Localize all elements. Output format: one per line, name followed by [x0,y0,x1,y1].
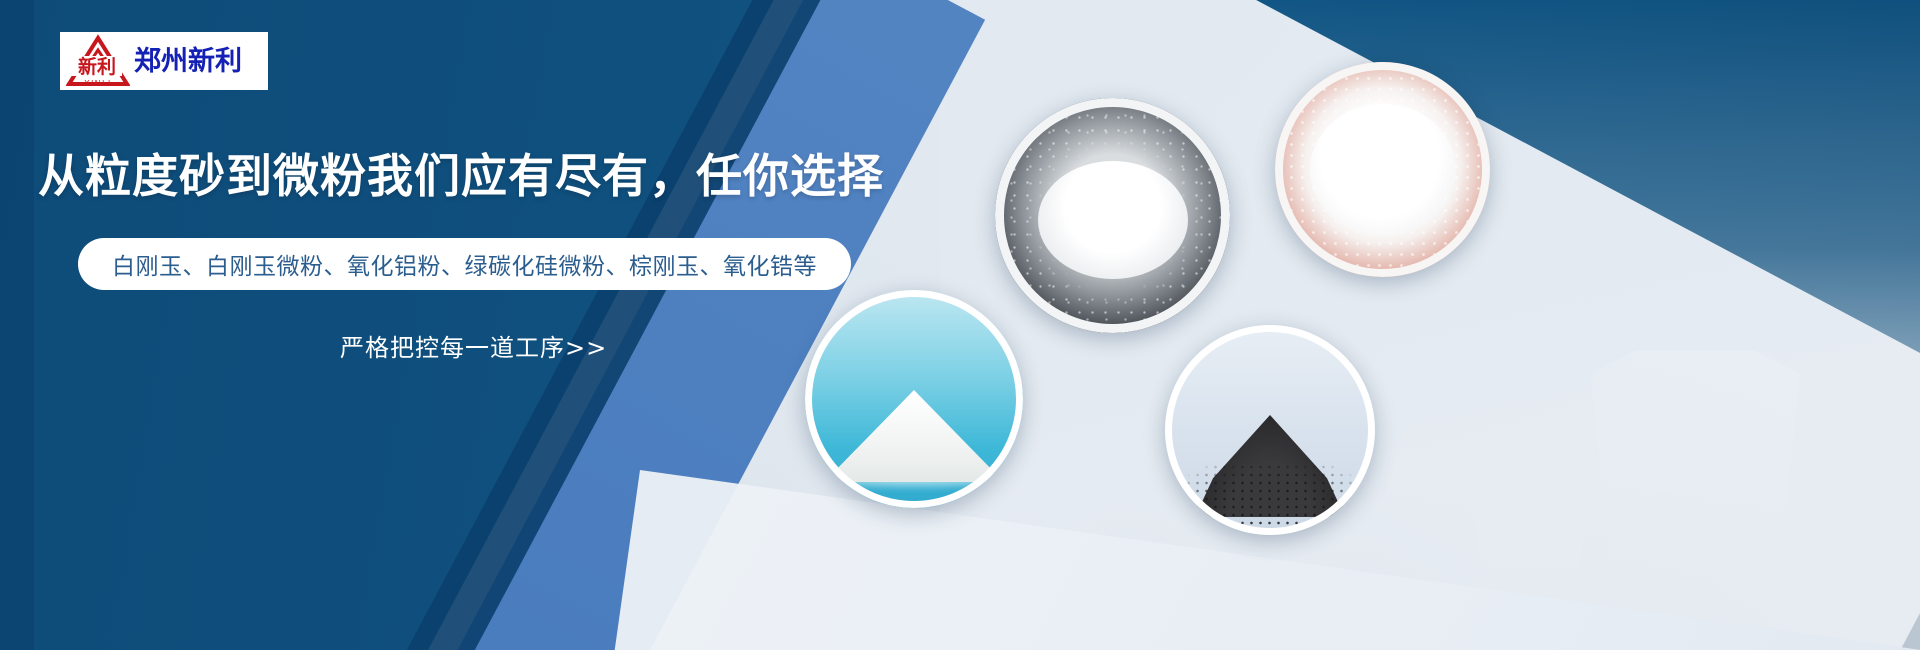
promo-banner: 新利 XINLI 郑州新利 从粒度砂到微粉我们应有尽有，任你选择 白刚玉、白刚玉… [0,0,1920,650]
xinli-triangle-icon: 新利 XINLI [66,34,130,88]
bowl-rim [1275,62,1490,277]
tagline-link[interactable]: 严格把控每一道工序>> [340,328,607,363]
product-list-pill: 白刚玉、白刚玉微粉、氧化铝粉、绿碳化硅微粉、棕刚玉、氧化锆等 [78,238,851,290]
product-photo-white-alumina-micropowder [1275,62,1490,277]
svg-text:新利: 新利 [78,55,116,78]
left-edge-shadow [0,0,34,650]
company-logo[interactable]: 新利 XINLI 郑州新利 [60,32,268,90]
product-photo-alumina-powder-cone [805,290,1023,508]
product-photo-white-fused-alumina-grit [995,98,1230,333]
product-photo-black-silicon-carbide [1165,325,1375,535]
headline-text: 从粒度砂到微粉我们应有尽有，任你选择 [38,140,884,206]
product-list-text: 白刚玉、白刚玉微粉、氧化铝粉、绿碳化硅微粉、棕刚玉、氧化锆等 [112,247,817,281]
bowl-rim [1165,325,1375,535]
bowl-rim [805,290,1023,508]
company-name: 郑州新利 [134,48,242,75]
svg-text:XINLI: XINLI [84,79,112,88]
bowl-rim [995,98,1230,333]
